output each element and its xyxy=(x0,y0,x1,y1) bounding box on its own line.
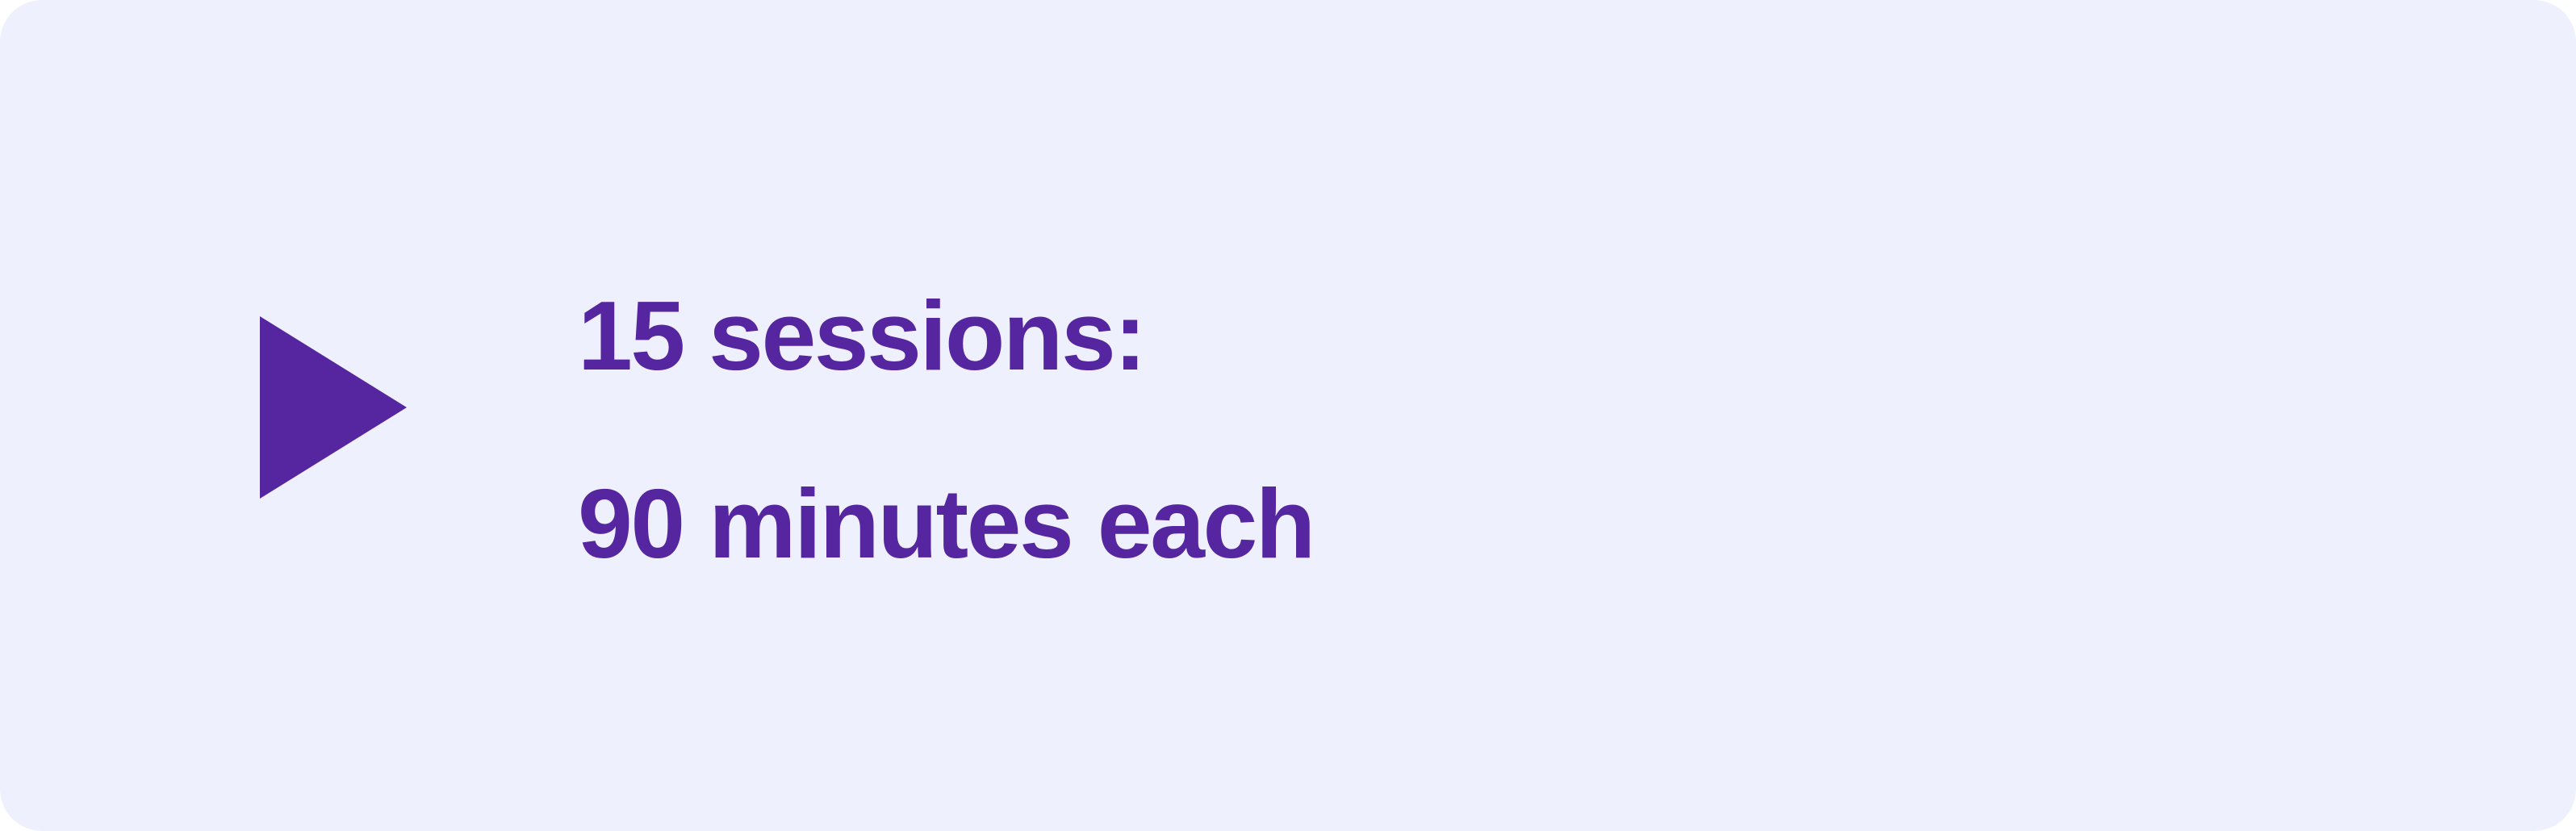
page-title: 15 sessions: 90 minutes each xyxy=(578,242,2353,618)
headline-line-duration: 90 minutes each xyxy=(578,430,2353,618)
headline-line-sessions: 15 sessions: xyxy=(578,242,2353,430)
play-triangle-icon xyxy=(260,316,407,499)
sessions-info-card: 15 sessions: 90 minutes each xyxy=(0,0,2576,831)
